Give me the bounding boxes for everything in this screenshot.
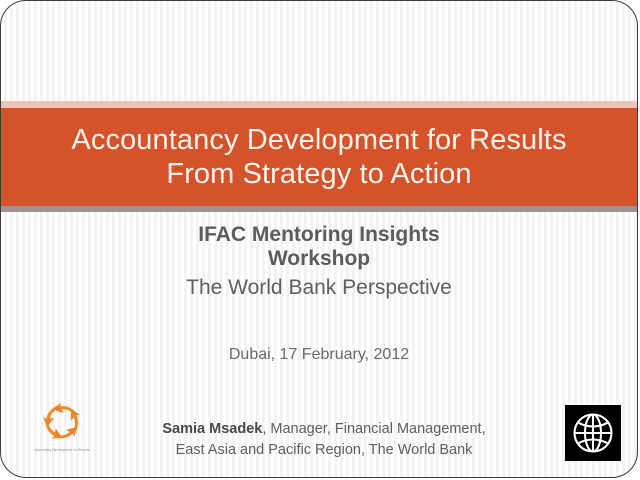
presenter-credit: Samia Msadek, Manager, Financial Managem… <box>121 419 527 461</box>
title-line-2: From Strategy to Action <box>166 158 471 190</box>
subtitle-block: IFAC Mentoring Insights Workshop The Wor… <box>1 223 637 301</box>
subtitle-bold-line-1: IFAC Mentoring Insights <box>198 223 440 246</box>
title-line-1: Accountancy Development for Results <box>71 124 566 156</box>
accountancy-development-logo: Accounting Development for Results <box>25 397 99 467</box>
presenter-name: Samia Msadek <box>162 421 262 437</box>
title-banner: Accountancy Development for Results From… <box>1 108 637 206</box>
page-title: Accountancy Development for Results From… <box>57 123 580 191</box>
globe-icon <box>565 405 621 461</box>
logo-caption: Accounting Development for Results <box>25 448 99 452</box>
banner-top-accent-strip <box>1 101 637 108</box>
banner-bottom-accent-strip <box>1 206 637 212</box>
world-bank-logo <box>565 405 621 461</box>
event-date-location: Dubai, 17 February, 2012 <box>1 346 637 364</box>
presenter-role: , Manager, Financial Management, <box>262 421 485 437</box>
presentation-slide: Accountancy Development for Results From… <box>0 0 638 478</box>
subtitle-emphasis: IFAC Mentoring Insights Workshop <box>1 223 637 271</box>
subtitle-bold-line-2: Workshop <box>268 247 370 270</box>
pinwheel-icon <box>35 397 89 447</box>
subtitle-secondary: The World Bank Perspective <box>1 274 637 301</box>
presenter-organization: East Asia and Pacific Region, The World … <box>176 442 473 458</box>
